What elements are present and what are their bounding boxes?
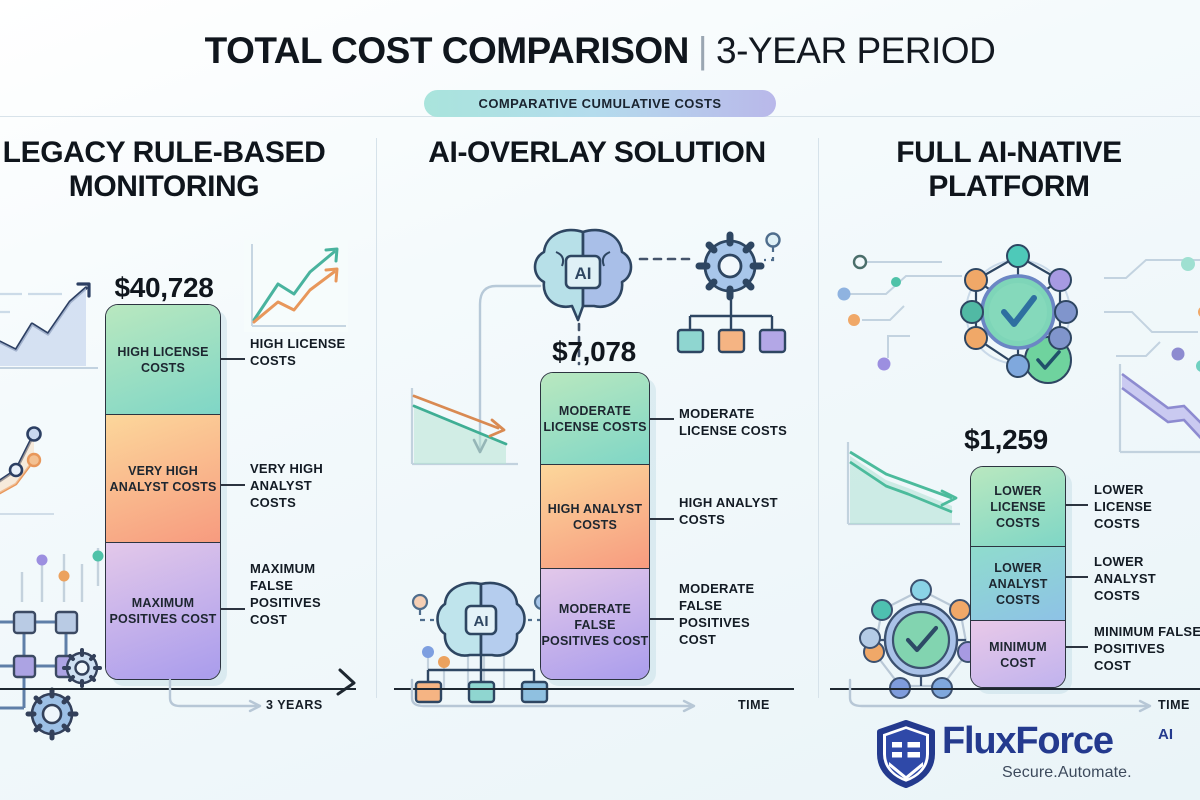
native-leader-3 <box>1066 646 1088 648</box>
gear-icon <box>692 228 768 304</box>
shield-icon <box>876 720 936 788</box>
legacy-segment-analyst[interactable]: VERY HIGH ANALYST COSTS <box>106 415 220 543</box>
overlay-leader-1 <box>650 418 674 420</box>
page-title: TOTAL COST COMPARISON|3-YEAR PERIOD <box>0 30 1200 72</box>
overlay-total-value: $7,078 <box>474 336 714 368</box>
native-leader-1 <box>1066 504 1088 506</box>
legacy-total-value: $40,728 <box>44 272 284 304</box>
native-callout-license: LOWER LICENSE COSTS <box>1094 482 1190 533</box>
scatter-line-chart-icon <box>0 418 88 528</box>
legacy-callout-license: HIGH LICENSE COSTS <box>250 336 346 370</box>
native-axis-curve-arrow <box>846 678 1166 714</box>
native-segment-license[interactable]: LOWER LICENSE COSTS <box>971 467 1065 547</box>
node-grid-gears-icon <box>0 604 110 736</box>
svg-text:AI: AI <box>474 613 489 630</box>
slider-dots-icon <box>8 546 118 608</box>
native-callout-false-positives: MINIMUM FALSE POSITIVES COST <box>1094 624 1200 675</box>
overlay-axis-label: TIME <box>738 698 770 712</box>
overlay-cost-bar: MODERATE LICENSE COSTS HIGH ANALYST COST… <box>540 372 650 680</box>
native-segment-analyst[interactable]: LOWER ANALYST COSTS <box>971 547 1065 621</box>
column-overlay-title: AI-OVERLAY SOLUTION <box>376 136 818 170</box>
svg-text:AI: AI <box>575 264 592 283</box>
page-title-separator: | <box>698 30 707 71</box>
overlay-segment-analyst[interactable]: HIGH ANALYST COSTS <box>541 465 649 569</box>
overlay-segment-false-positives[interactable]: MODERATE FALSE POSITIVES COST <box>541 569 649 680</box>
legacy-axis-label: 3 YEARS <box>266 698 323 712</box>
legacy-axis-arrowhead <box>334 666 360 696</box>
legacy-callout-false-positives: MAXIMUM FALSE POSITIVES COST <box>250 561 354 629</box>
brand-logo[interactable]: FluxForce AI Secure.Automate. <box>876 716 1196 788</box>
gear-node-dot-icon <box>764 232 794 276</box>
declining-chart-icon <box>400 382 522 478</box>
native-axis-label: TIME <box>1158 698 1190 712</box>
brand-name: FluxForce <box>942 722 1113 760</box>
overlay-axis-curve-arrow <box>408 678 708 714</box>
overlay-callout-false-positives: MODERATE FALSE POSITIVES COST <box>679 581 783 649</box>
top-subtitle-pill: COMPARATIVE CUMULATIVE COSTS <box>424 90 776 117</box>
native-callout-analyst: LOWER ANALYST COSTS <box>1094 554 1190 605</box>
legacy-segment-license[interactable]: HIGH LICENSE COSTS <box>106 305 220 415</box>
page-title-main: TOTAL COST COMPARISON <box>205 30 689 71</box>
legacy-cost-bar: HIGH LICENSE COSTS VERY HIGH ANALYST COS… <box>105 304 221 680</box>
page-header: TOTAL COST COMPARISON|3-YEAR PERIOD COMP… <box>0 0 1200 118</box>
brand-tagline: Secure.Automate. <box>1002 764 1132 782</box>
overlay-segment-license[interactable]: MODERATE LICENSE COSTS <box>541 373 649 465</box>
column-legacy: LEGACY RULE-BASED MONITORING <box>0 118 376 730</box>
legacy-segment-false-positives[interactable]: MAXIMUM POSITIVES COST <box>106 543 220 679</box>
column-native-title: FULL AI-NATIVE PLATFORM <box>818 136 1200 204</box>
column-overlay: AI-OVERLAY SOLUTION AI <box>376 118 818 730</box>
overlay-callout-analyst: HIGH ANALYST COSTS <box>679 495 783 529</box>
overlay-callout-license: MODERATE LICENSE COSTS <box>679 406 803 440</box>
native-cost-bar: LOWER LICENSE COSTS LOWER ANALYST COSTS … <box>970 466 1066 688</box>
native-total-value: $1,259 <box>886 424 1126 456</box>
legacy-leader-3 <box>221 608 245 610</box>
legacy-axis-curve-arrow <box>166 678 276 714</box>
legacy-leader-1 <box>221 358 245 360</box>
overlay-leader-3 <box>650 618 674 620</box>
column-legacy-title: LEGACY RULE-BASED MONITORING <box>0 136 374 204</box>
legacy-leader-2 <box>221 484 245 486</box>
network-check-icon <box>938 234 1098 392</box>
page-title-sub: 3-YEAR PERIOD <box>716 30 995 71</box>
overlay-leader-2 <box>650 518 674 520</box>
legacy-callout-analyst: VERY HIGH ANALYST COSTS <box>250 461 354 512</box>
brand-suffix: AI <box>1158 726 1173 743</box>
column-native: FULL AI-NATIVE PLATFORM <box>818 118 1200 730</box>
native-leader-2 <box>1066 576 1088 578</box>
brain-gear-dashed-link <box>638 252 698 266</box>
